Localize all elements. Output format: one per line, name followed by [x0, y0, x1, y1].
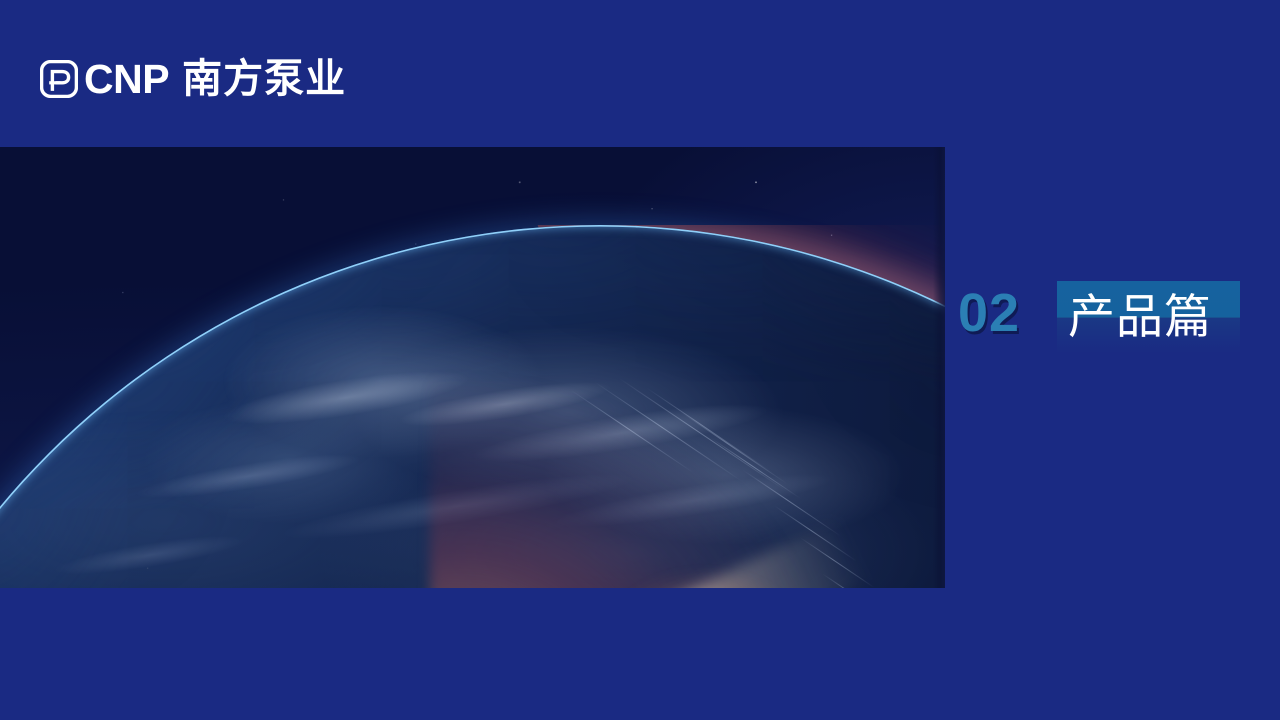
footer-slogan: 节能泵王 绿色中国 — [0, 636, 1280, 684]
planet-wrapper — [0, 147, 945, 588]
earth-surface-texture — [0, 225, 945, 588]
section-number: 02 — [958, 286, 1020, 340]
brand-latin-text: CNP — [84, 59, 169, 100]
brand-logo: CNP 南方泵业 — [40, 56, 346, 102]
brand-chinese-text: 南方泵业 — [182, 59, 346, 99]
earth-from-space-photo — [0, 147, 945, 588]
slide-canvas: CNP 南方泵业 02 产品篇 节能泵王 绿色中国 — [0, 0, 1280, 720]
cnp-logo-mark-icon — [40, 60, 78, 98]
section-title: 产品篇 — [1068, 280, 1248, 352]
earth-sphere — [0, 225, 945, 588]
